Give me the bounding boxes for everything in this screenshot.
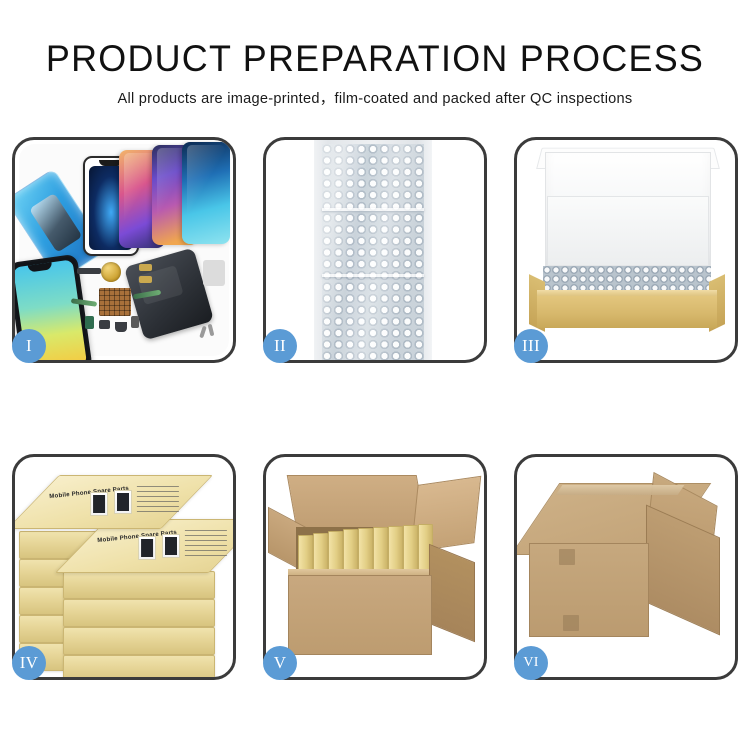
kraft-box-front-icon: [537, 296, 717, 328]
process-step-panel-2: II: [263, 137, 487, 363]
step-badge-6: VI: [514, 646, 548, 680]
step-badge-3: III: [514, 329, 548, 363]
process-step-panel-1: I: [12, 137, 236, 363]
scene-open-carton-filled-with-boxes: [266, 457, 484, 677]
step-badge-4: IV: [12, 646, 46, 680]
carton-front-face-icon: [288, 575, 432, 655]
panel-3-image: [517, 140, 735, 360]
carton-front-face-icon: [529, 543, 649, 637]
scene-open-box-with-bubble-wrapped-items: [517, 140, 735, 360]
panel-6-image: [517, 457, 735, 677]
phone-device-icon: [182, 142, 230, 244]
packing-tape-icon: [556, 485, 685, 495]
scene-sealed-carton: [517, 457, 735, 677]
speaker-part-icon: [101, 262, 121, 282]
step-badge-5: V: [263, 646, 297, 680]
page-title: PRODUCT PREPARATION PROCESS: [11, 0, 739, 80]
carton-side-face-icon: [429, 544, 475, 643]
panel-1-image: [15, 140, 233, 360]
scene-bubble-wrap-strip: [266, 140, 484, 360]
scene-stacked-kraft-boxes: Mobile Phone Spare Parts Mobile Phone Sp…: [15, 457, 233, 677]
bubble-wrap-icon: [314, 140, 432, 360]
page-header: PRODUCT PREPARATION PROCESS All products…: [0, 0, 750, 109]
page-subtitle: All products are image-printed，film-coat…: [0, 80, 750, 109]
step-badge-1: I: [12, 329, 46, 363]
process-step-panel-6: VI: [514, 454, 738, 680]
process-step-panel-3: III: [514, 137, 738, 363]
panel-4-image: Mobile Phone Spare Parts Mobile Phone Sp…: [15, 457, 233, 677]
foam-sheet-icon: [547, 196, 709, 266]
process-steps-grid: I II: [12, 137, 738, 680]
process-step-panel-4: Mobile Phone Spare Parts Mobile Phone Sp…: [12, 454, 236, 680]
chip-board-part-icon: [99, 288, 131, 316]
scene-phone-screens-and-spare-parts: [15, 140, 233, 360]
panel-5-image: [266, 457, 484, 677]
step-badge-2: II: [263, 329, 297, 363]
process-step-panel-5: V: [263, 454, 487, 680]
panel-2-image: [266, 140, 484, 360]
